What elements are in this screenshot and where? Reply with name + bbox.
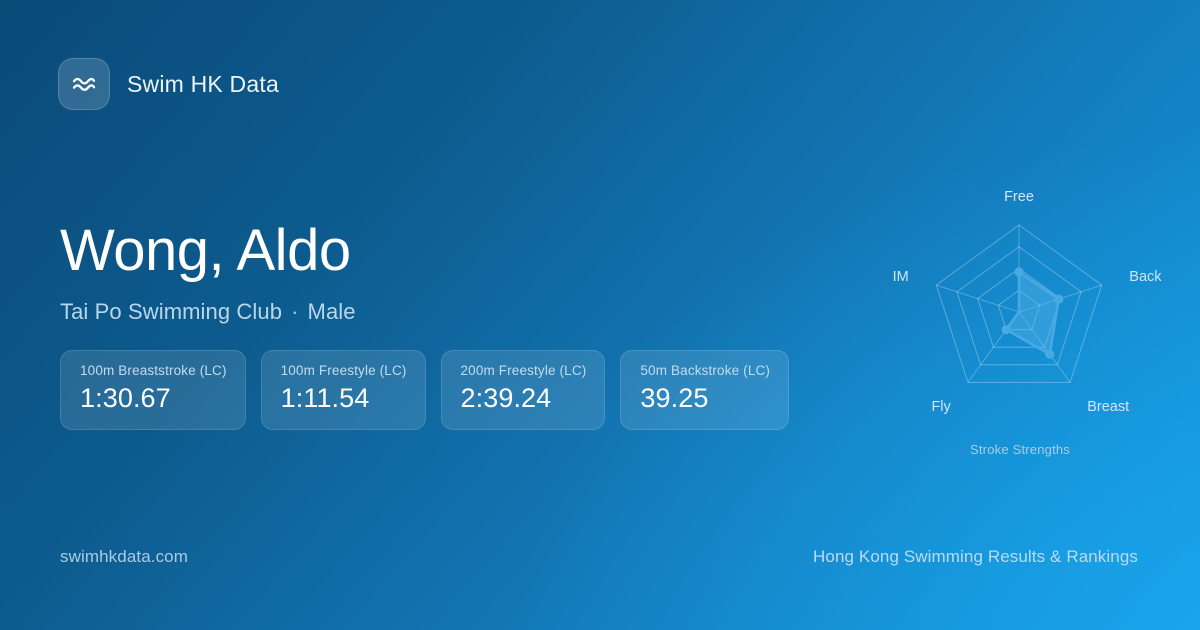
- athlete-subtitle: Tai Po Swimming Club·Male: [60, 299, 356, 325]
- stat-card-value: 2:39.24: [461, 383, 587, 414]
- stat-card-list: 100m Breaststroke (LC) 1:30.67 100m Free…: [60, 350, 789, 430]
- meta-separator: ·: [282, 299, 307, 324]
- stat-card[interactable]: 100m Freestyle (LC) 1:11.54: [261, 350, 426, 430]
- radar-data-area: [1006, 272, 1058, 354]
- footer-tagline: Hong Kong Swimming Results & Rankings: [813, 547, 1138, 567]
- radar-axis-label: Free: [1004, 189, 1034, 205]
- waves-icon: [58, 58, 110, 110]
- stat-card[interactable]: 200m Freestyle (LC) 2:39.24: [441, 350, 606, 430]
- radar-caption: Stroke Strengths: [869, 442, 1171, 457]
- radar-point[interactable]: [1014, 267, 1023, 276]
- brand-name: Swim HK Data: [127, 71, 279, 98]
- footer-site-url[interactable]: swimhkdata.com: [60, 547, 188, 567]
- poster-canvas: Swim HK Data Wong, Aldo Tai Po Swimming …: [0, 0, 1200, 630]
- radar-axis-label: Back: [1129, 269, 1162, 285]
- radar-axis-label: IM: [893, 269, 909, 285]
- athlete-gender: Male: [308, 299, 356, 324]
- stat-card-label: 200m Freestyle (LC): [461, 363, 587, 378]
- page-title: Wong, Aldo: [60, 222, 356, 280]
- radar-point[interactable]: [1002, 325, 1011, 334]
- stat-card[interactable]: 50m Backstroke (LC) 39.25: [620, 350, 789, 430]
- radar-point[interactable]: [1045, 350, 1054, 359]
- stat-card-value: 39.25: [640, 383, 770, 414]
- athlete-club: Tai Po Swimming Club: [60, 299, 282, 324]
- brand-logo-group[interactable]: Swim HK Data: [58, 58, 279, 110]
- stat-card-label: 100m Breaststroke (LC): [80, 363, 227, 378]
- stat-card-value: 1:11.54: [281, 383, 407, 414]
- stat-card-value: 1:30.67: [80, 383, 227, 414]
- stat-card[interactable]: 100m Breaststroke (LC) 1:30.67: [60, 350, 246, 430]
- stat-card-label: 50m Backstroke (LC): [640, 363, 770, 378]
- radar-point[interactable]: [1054, 295, 1063, 304]
- radar-spoke: [936, 285, 1019, 312]
- radar-axis-label: Breast: [1087, 399, 1129, 415]
- athlete-header: Wong, Aldo Tai Po Swimming Club·Male: [60, 222, 356, 325]
- radar-axis-label: Fly: [931, 399, 951, 415]
- stroke-strengths-radar-chart: FreeBackBreastFlyIM Stroke Strengths: [869, 170, 1171, 470]
- stat-card-label: 100m Freestyle (LC): [281, 363, 407, 378]
